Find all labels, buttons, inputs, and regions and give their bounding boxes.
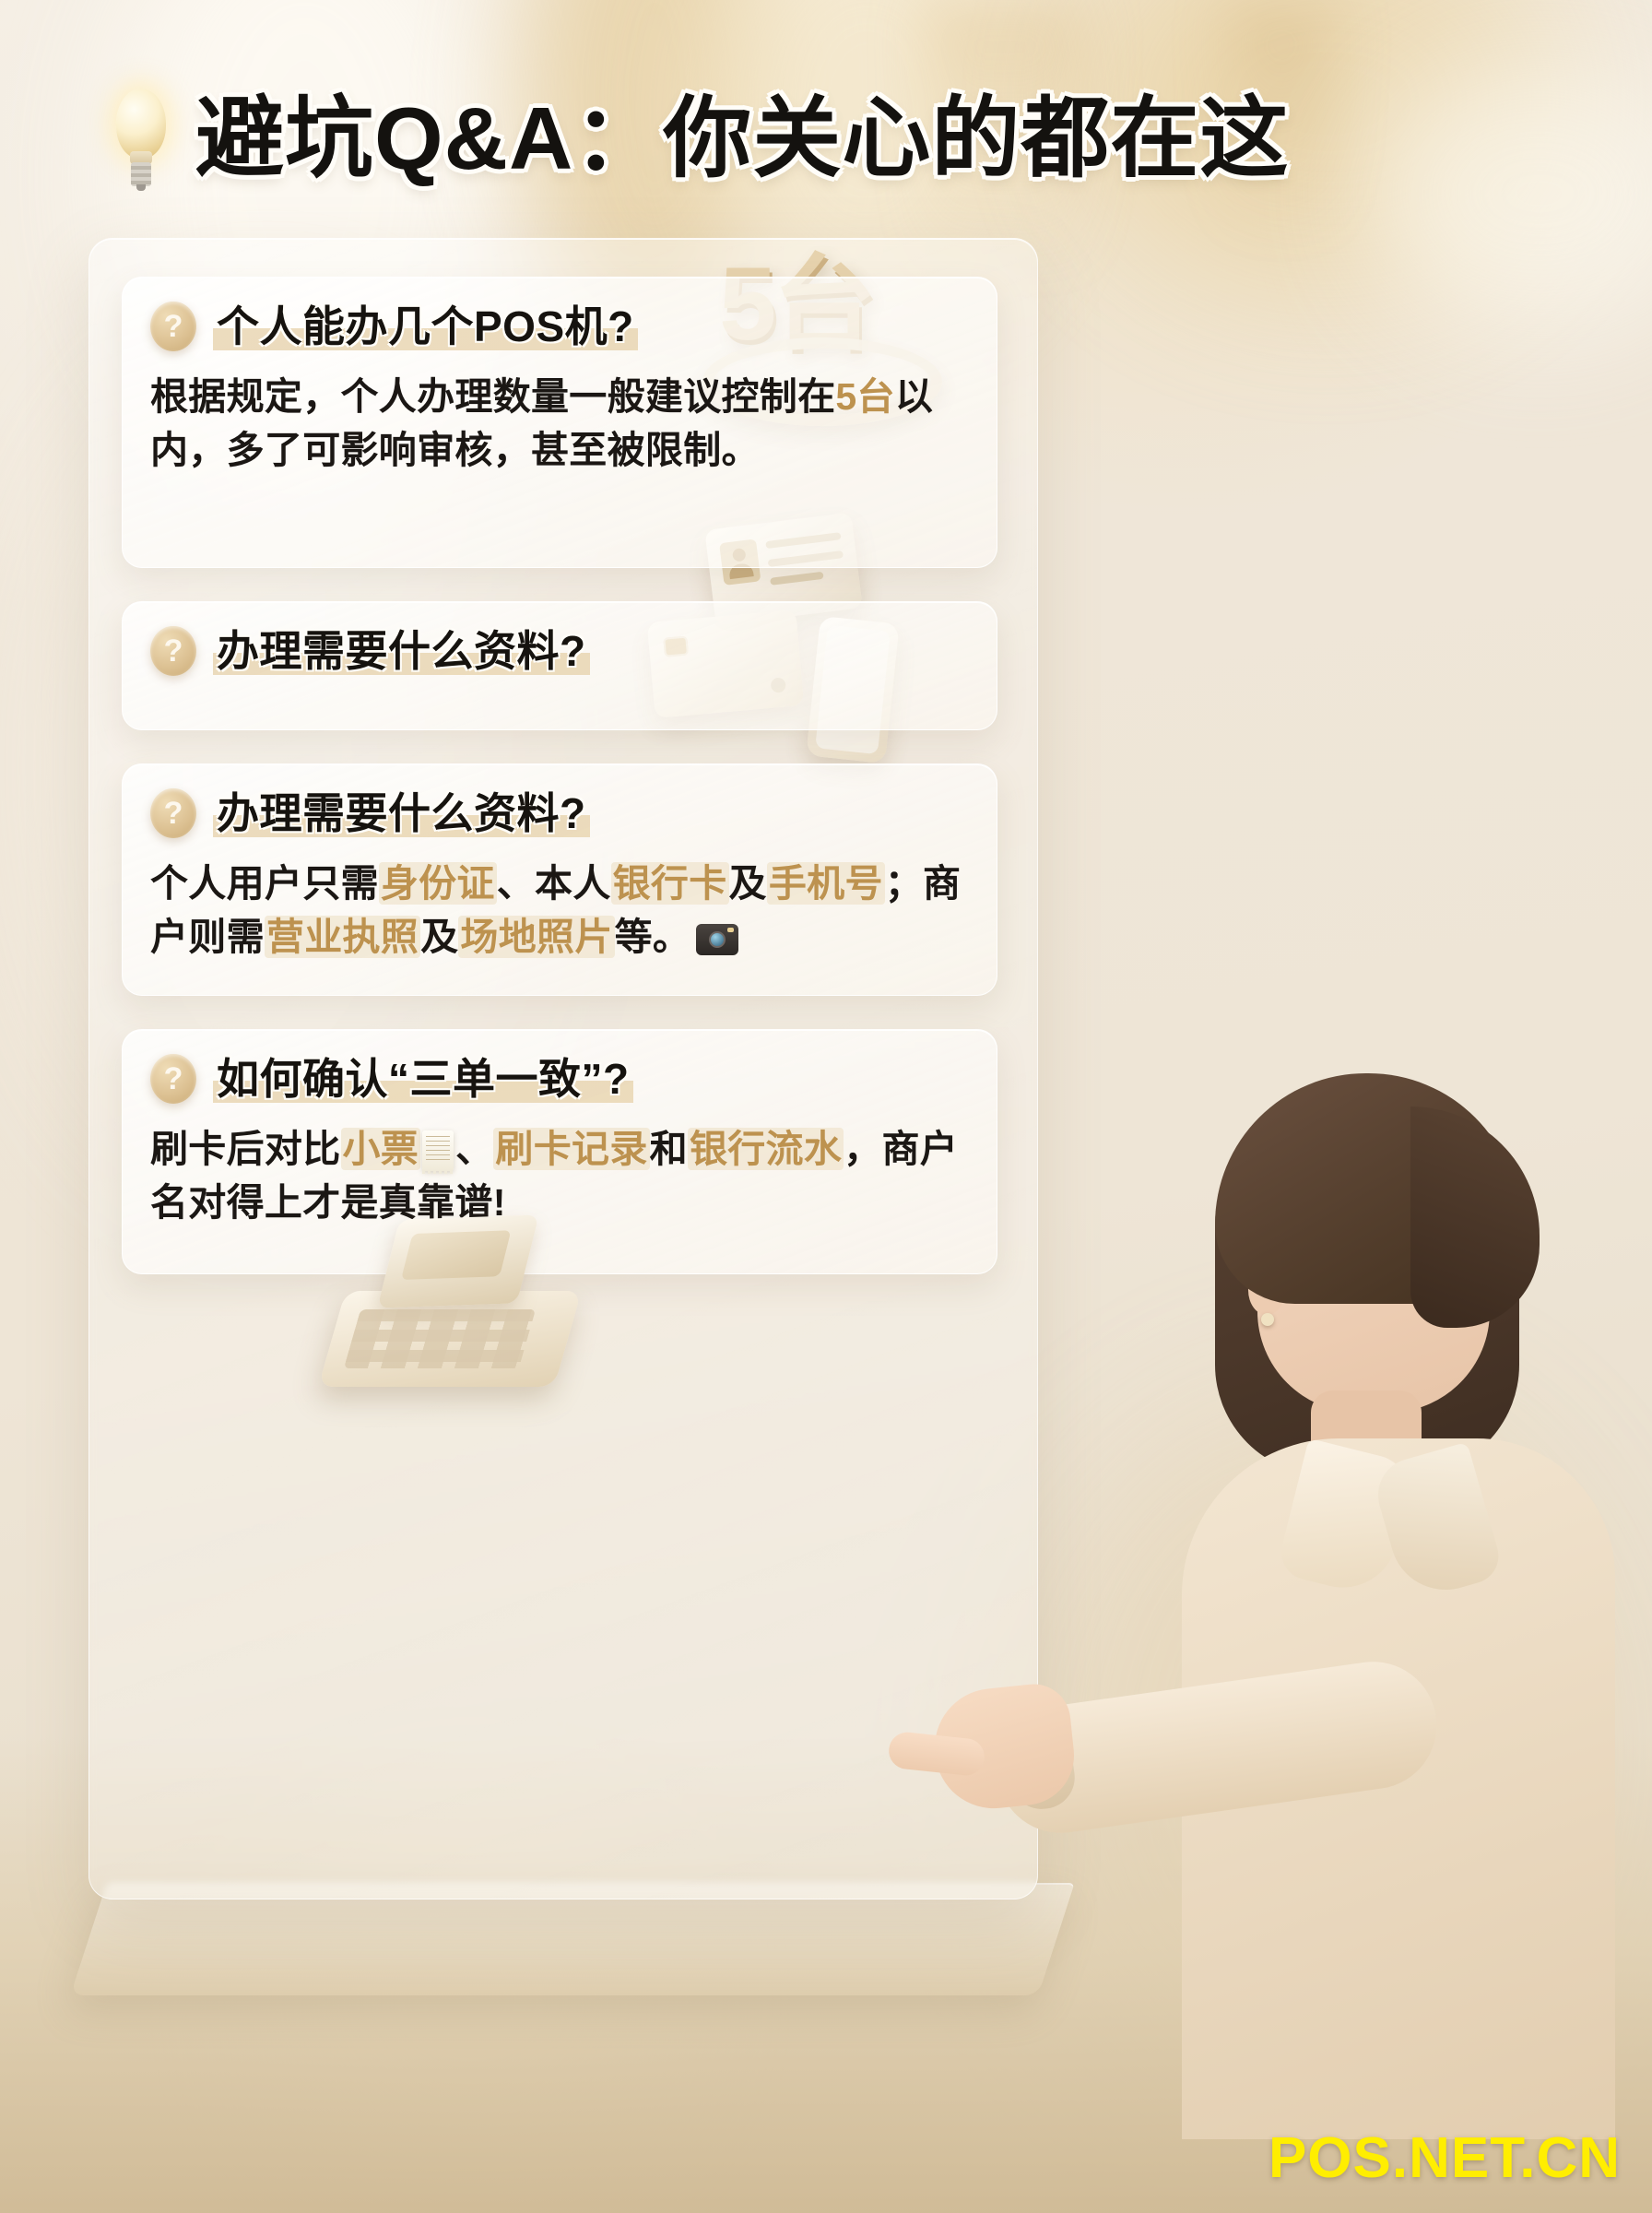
- qa-card-4-text-3: 和: [650, 1128, 688, 1170]
- qa-card-3-header: ? 办理需要什么资料?: [150, 788, 969, 838]
- terminal-screen: [377, 1214, 539, 1308]
- page-title: 避坑Q&A：你关心的都在这: [195, 95, 1289, 183]
- qa-card-3-highlight-5: 场地照片: [458, 916, 614, 958]
- question-mark-icon: ?: [150, 1054, 196, 1104]
- qa-card-3-text-6: 等。: [615, 916, 691, 958]
- lightbulb-icon: [111, 89, 171, 190]
- qa-card-2-header: ? 办理需要什么资料?: [150, 626, 969, 676]
- qa-card-1-text-1: 根据规定，个人办理数量一般建议控制在: [150, 375, 835, 418]
- qa-card-3-body: 个人用户只需身份证、本人银行卡及手机号；商户则需营业执照及场地照片等。: [150, 857, 969, 964]
- qa-card-4-header: ? 如何确认“三单一致”?: [150, 1054, 969, 1104]
- terminal-keypad: [344, 1309, 536, 1368]
- qa-card-4-highlight-2: 刷卡记录: [493, 1128, 649, 1170]
- qa-card-4-text-2: 、: [455, 1128, 493, 1170]
- pos-terminal-prop: [332, 1213, 590, 1389]
- qa-card-4-highlight-3: 银行流水: [688, 1128, 844, 1170]
- qa-card-4-highlight-1: 小票: [341, 1128, 421, 1170]
- hair-sweep: [1410, 1106, 1540, 1328]
- qa-card-1-title: 个人能办几个POS机?: [213, 302, 638, 350]
- qa-card-1[interactable]: ? 个人能办几个POS机? 根据规定，个人办理数量一般建议控制在5台以内，多了可…: [122, 277, 997, 568]
- qa-card-4-title: 如何确认“三单一致”?: [213, 1055, 633, 1103]
- page-header: 避坑Q&A：你关心的都在这: [111, 89, 1289, 190]
- qa-card-3-highlight-2: 银行卡: [611, 862, 729, 905]
- qa-card-3-text-1: 个人用户只需: [150, 862, 379, 905]
- qa-card-3-highlight-3: 手机号: [767, 862, 885, 905]
- qa-card-3-text-5: 及: [420, 916, 458, 958]
- qa-card-3-highlight-4: 营业执照: [265, 916, 420, 958]
- qa-card-2-title: 办理需要什么资料?: [213, 627, 590, 675]
- qa-card-3-title: 办理需要什么资料?: [213, 789, 590, 837]
- earring: [1261, 1313, 1274, 1326]
- qa-card-3[interactable]: ? 办理需要什么资料? 个人用户只需身份证、本人银行卡及手机号；商户则需营业执照…: [122, 763, 997, 996]
- character-illustration: [1044, 1051, 1652, 2139]
- qa-card-1-highlight-1: 5台: [835, 375, 894, 418]
- qa-card-3-text-3: 及: [729, 862, 767, 905]
- qa-card-4-text-1: 刷卡后对比: [150, 1128, 341, 1170]
- bulb-glass: [116, 89, 166, 159]
- question-mark-icon: ?: [150, 302, 196, 351]
- id-line: [770, 572, 824, 586]
- qa-card-1-body: 根据规定，个人办理数量一般建议控制在5台以内，多了可影响审核，甚至被限制。: [150, 370, 969, 477]
- question-mark-icon: ?: [150, 788, 196, 838]
- receipt-icon: [422, 1130, 454, 1171]
- glass-panel-stand: [70, 1883, 1075, 1995]
- qa-card-2[interactable]: ? 办理需要什么资料?: [122, 601, 997, 730]
- bulb-tip: [136, 184, 146, 191]
- qa-card-3-text-2: 、本人: [497, 862, 611, 905]
- question-mark-icon: ?: [150, 626, 196, 676]
- camera-icon: [696, 924, 738, 955]
- terminal-display: [401, 1230, 512, 1280]
- qa-card-3-highlight-1: 身份证: [379, 862, 497, 905]
- bulb-base: [131, 162, 151, 186]
- qa-card-1-header: ? 个人能办几个POS机?: [150, 302, 969, 351]
- site-watermark: POS.NET.CN: [1268, 2125, 1621, 2191]
